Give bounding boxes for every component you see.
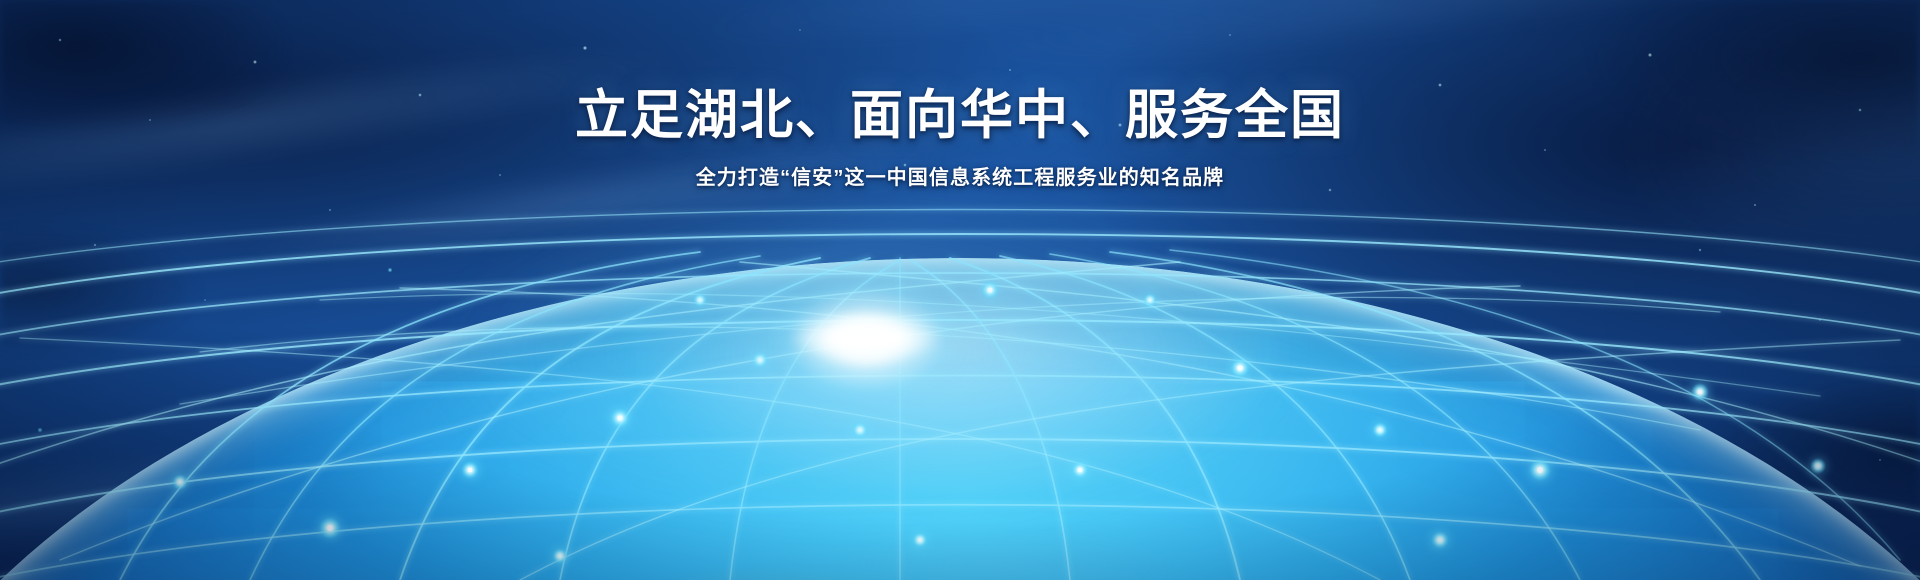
banner-headline: 立足湖北、面向华中、服务全国 xyxy=(0,86,1920,145)
hero-banner: 立足湖北、面向华中、服务全国 全力打造“信安”这一中国信息系统工程服务业的知名品… xyxy=(0,0,1920,580)
banner-subheadline: 全力打造“信安”这一中国信息系统工程服务业的知名品牌 xyxy=(0,161,1920,190)
light-burst-core xyxy=(791,312,941,364)
banner-text-block: 立足湖北、面向华中、服务全国 全力打造“信安”这一中国信息系统工程服务业的知名品… xyxy=(0,86,1920,190)
